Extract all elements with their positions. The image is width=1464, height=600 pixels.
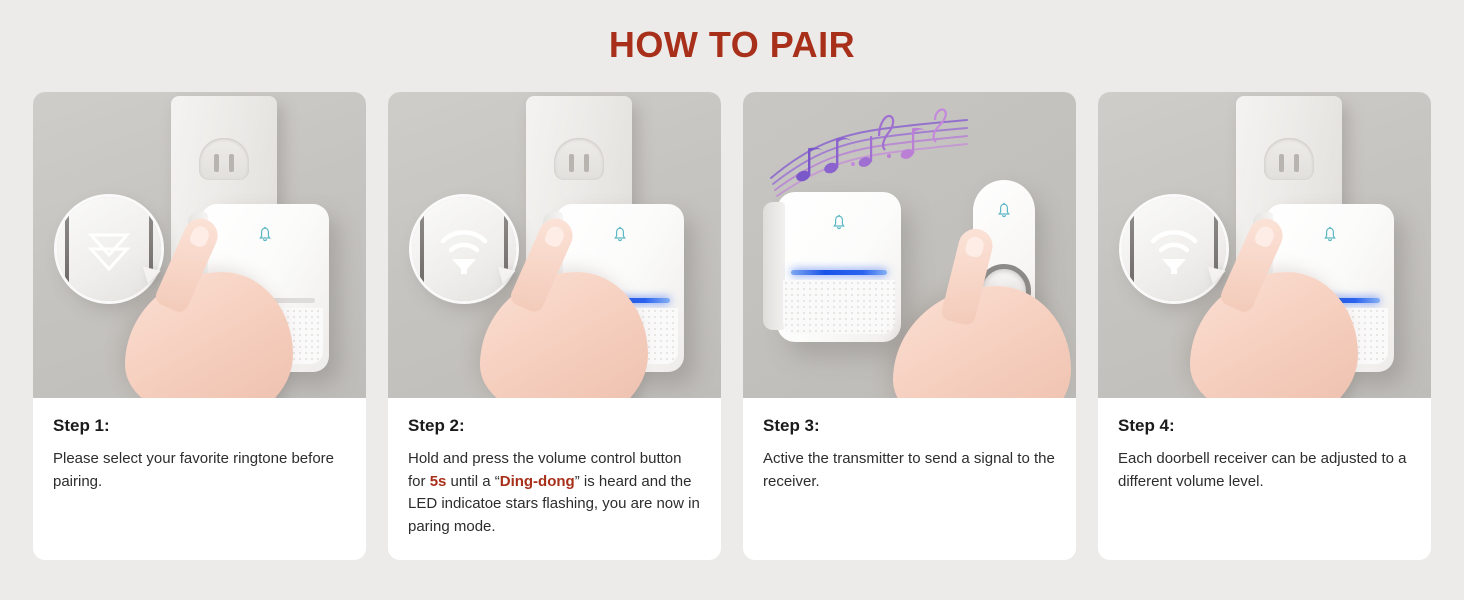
step-card-4: Step 4: Each doorbell receiver can be ad… xyxy=(1098,92,1431,560)
step-3-title: Step 3: xyxy=(763,416,1056,436)
hand-pressing-button-1 xyxy=(125,272,293,398)
step-4-body: Step 4: Each doorbell receiver can be ad… xyxy=(1098,398,1431,560)
bell-icon xyxy=(996,202,1012,220)
step-4-title: Step 4: xyxy=(1118,416,1411,436)
double-chevron-down-icon xyxy=(79,219,139,279)
step-4-photo xyxy=(1098,92,1431,398)
step-1-photo xyxy=(33,92,366,398)
fingernail xyxy=(964,235,985,259)
hand-pressing-button-4 xyxy=(1190,272,1358,398)
outlet-socket xyxy=(199,138,249,180)
fingernail xyxy=(1253,224,1277,249)
socket-slot-left xyxy=(214,154,219,172)
outlet-socket xyxy=(554,138,604,180)
wifi-signal-icon xyxy=(434,219,494,279)
step-1-title: Step 1: xyxy=(53,416,346,436)
callout-tail-4 xyxy=(1208,262,1228,284)
hand-pressing-button-2 xyxy=(480,272,648,398)
music-notes-icon xyxy=(769,106,969,202)
socket-slot-left xyxy=(1279,154,1284,172)
socket-slot-right xyxy=(229,154,234,172)
step-3-text: Active the transmitter to send a signal … xyxy=(763,448,1056,493)
wifi-signal-icon xyxy=(1144,219,1204,279)
steps-container: Step 1: Please select your favorite ring… xyxy=(33,92,1431,560)
bell-icon xyxy=(831,214,847,232)
receiver-side-panel xyxy=(763,202,785,330)
socket-slot-right xyxy=(1294,154,1299,172)
step-2-photo xyxy=(388,92,721,398)
fingernail xyxy=(188,224,212,249)
step-1-text: Please select your favorite ringtone bef… xyxy=(53,448,346,493)
hand-pressing-transmitter xyxy=(893,286,1071,398)
doorbell-receiver xyxy=(777,192,901,342)
step-2-title: Step 2: xyxy=(408,416,701,436)
step-card-2: Step 2: Hold and press the volume contro… xyxy=(388,92,721,560)
step-4-text: Each doorbell receiver can be adjusted t… xyxy=(1118,448,1411,493)
highlighted-text: 5s xyxy=(430,473,447,490)
socket-slot-right xyxy=(584,154,589,172)
step-3-body: Step 3: Active the transmitter to send a… xyxy=(743,398,1076,560)
bell-icon xyxy=(612,226,628,244)
magnifier-callout-4 xyxy=(1122,197,1226,301)
body-text: until a “ xyxy=(446,473,499,490)
step-card-3: Step 3: Active the transmitter to send a… xyxy=(743,92,1076,560)
magnifier-callout-1 xyxy=(57,197,161,301)
callout-tail-1 xyxy=(143,262,163,284)
step-1-body: Step 1: Please select your favorite ring… xyxy=(33,398,366,560)
step-3-photo xyxy=(743,92,1076,398)
highlighted-text: Ding-dong xyxy=(500,473,575,490)
magnifier-callout-2 xyxy=(412,197,516,301)
step-2-body: Step 2: Hold and press the volume contro… xyxy=(388,398,721,560)
bell-icon xyxy=(1322,226,1338,244)
receiver-led-bar xyxy=(791,270,887,275)
step-2-text: Hold and press the volume control button… xyxy=(408,448,701,538)
outlet-socket xyxy=(1264,138,1314,180)
socket-slot-left xyxy=(569,154,574,172)
receiver-speaker-grill xyxy=(783,280,895,334)
bell-icon xyxy=(257,226,273,244)
callout-tail-2 xyxy=(498,262,518,284)
fingernail xyxy=(543,224,567,249)
page-title: HOW TO PAIR xyxy=(0,24,1464,66)
step-card-1: Step 1: Please select your favorite ring… xyxy=(33,92,366,560)
